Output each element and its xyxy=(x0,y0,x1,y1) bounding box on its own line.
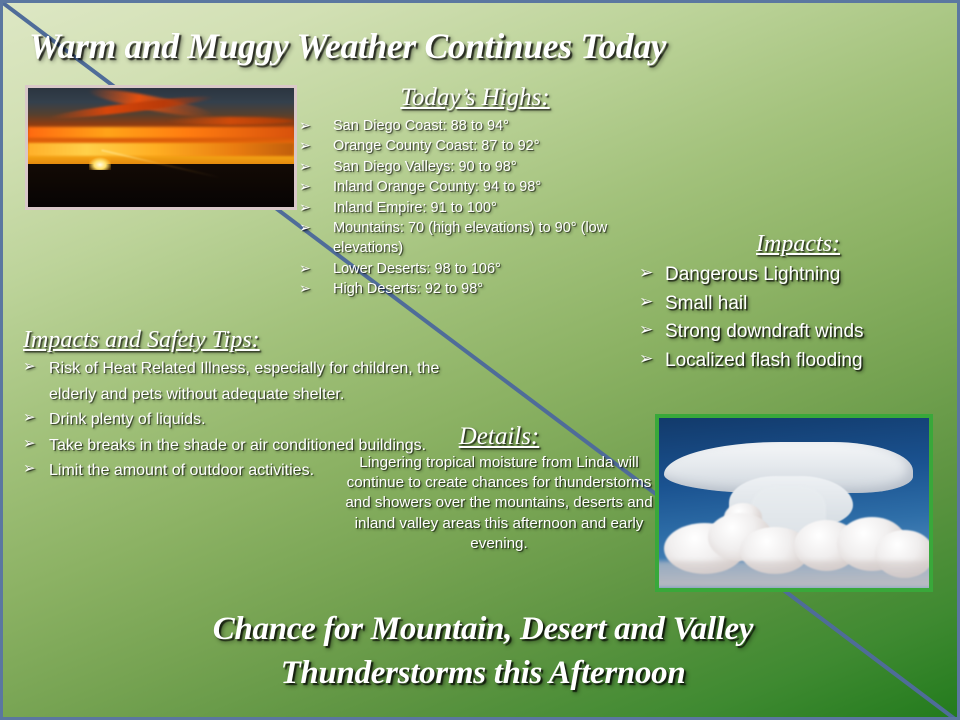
todays-highs-heading: Today’s Highs: xyxy=(299,83,651,113)
sunset-bright-band xyxy=(28,143,294,156)
arrow-bullet-icon: ➢ xyxy=(23,458,49,476)
list-item: ➢ Inland Empire: 91 to 100° xyxy=(299,198,651,218)
list-item: ➢ Lower Deserts: 98 to 106° xyxy=(299,259,651,279)
list-item: ➢ Strong downdraft winds xyxy=(639,318,957,347)
list-item: ➢ Inland Orange County: 94 to 98° xyxy=(299,177,651,197)
list-item-label: Limit the amount of outdoor activities. xyxy=(49,458,314,484)
arrow-bullet-icon: ➢ xyxy=(23,433,49,451)
list-item: ➢ Dangerous Lightning xyxy=(639,261,957,290)
arrow-bullet-icon: ➢ xyxy=(23,356,49,374)
list-item-label: Drink plenty of liquids. xyxy=(49,407,206,433)
page-title: Warm and Muggy Weather Continues Today xyxy=(29,25,666,67)
impacts-and-safety-tips-heading: Impacts and Safety Tips: xyxy=(23,325,453,355)
details-heading: Details: xyxy=(343,421,655,452)
arrow-bullet-icon: ➢ xyxy=(639,290,665,310)
sun-glow xyxy=(89,157,111,170)
arrow-bullet-icon: ➢ xyxy=(639,261,665,281)
bottom-banner-line-2: Thunderstorms this Afternoon xyxy=(3,651,960,695)
list-item-label: Strong downdraft winds xyxy=(665,318,864,347)
list-item-label: Small hail xyxy=(665,290,747,319)
weather-briefing-slide: Warm and Muggy Weather Continues Today T… xyxy=(0,0,960,720)
list-item: ➢ San Diego Coast: 88 to 94° xyxy=(299,116,651,136)
list-item-label: Mountains: 70 (high elevations) to 90° (… xyxy=(333,218,651,259)
list-item: ➢ Mountains: 70 (high elevations) to 90°… xyxy=(299,218,651,259)
todays-highs-section: Today’s Highs: ➢ San Diego Coast: 88 to … xyxy=(299,83,651,300)
bottom-banner: Chance for Mountain, Desert and Valley T… xyxy=(3,607,960,695)
details-body: Lingering tropical moisture from Linda w… xyxy=(343,453,655,554)
list-item: ➢ Orange County Coast: 87 to 92° xyxy=(299,136,651,156)
list-item: ➢ Risk of Heat Related Illness, especial… xyxy=(23,356,453,407)
arrow-bullet-icon: ➢ xyxy=(639,347,665,367)
list-item-label: Risk of Heat Related Illness, especially… xyxy=(49,356,453,407)
list-item-label: Dangerous Lightning xyxy=(665,261,840,290)
cloud-base-haze xyxy=(655,561,933,588)
arrow-bullet-icon: ➢ xyxy=(299,116,333,132)
impacts-heading: Impacts: xyxy=(639,229,957,259)
impacts-list: ➢ Dangerous Lightning ➢ Small hail ➢ Str… xyxy=(639,261,957,375)
list-item-label: High Deserts: 92 to 98° xyxy=(333,279,651,299)
sunset-foreground xyxy=(28,164,294,207)
list-item-label: Lower Deserts: 98 to 106° xyxy=(333,259,651,279)
list-item: ➢ San Diego Valleys: 90 to 98° xyxy=(299,157,651,177)
list-item: ➢ High Deserts: 92 to 98° xyxy=(299,279,651,299)
arrow-bullet-icon: ➢ xyxy=(299,198,333,214)
list-item-label: Inland Orange County: 94 to 98° xyxy=(333,177,651,197)
list-item-label: San Diego Coast: 88 to 94° xyxy=(333,116,651,136)
arrow-bullet-icon: ➢ xyxy=(299,279,333,295)
sunset-photo xyxy=(25,85,297,210)
list-item-label: Localized flash flooding xyxy=(665,347,863,376)
arrow-bullet-icon: ➢ xyxy=(299,218,333,234)
list-item-label: Inland Empire: 91 to 100° xyxy=(333,198,651,218)
impacts-section: Impacts: ➢ Dangerous Lightning ➢ Small h… xyxy=(639,229,957,375)
arrow-bullet-icon: ➢ xyxy=(639,318,665,338)
list-item: ➢ Localized flash flooding xyxy=(639,347,957,376)
list-item-label: San Diego Valleys: 90 to 98° xyxy=(333,157,651,177)
arrow-bullet-icon: ➢ xyxy=(299,136,333,152)
bottom-banner-line-1: Chance for Mountain, Desert and Valley xyxy=(3,607,960,651)
cumulonimbus-cloud-photo xyxy=(655,414,933,592)
arrow-bullet-icon: ➢ xyxy=(299,157,333,173)
arrow-bullet-icon: ➢ xyxy=(23,407,49,425)
details-section: Details: Lingering tropical moisture fro… xyxy=(343,421,655,554)
list-item: ➢ Small hail xyxy=(639,290,957,319)
arrow-bullet-icon: ➢ xyxy=(299,259,333,275)
todays-highs-list: ➢ San Diego Coast: 88 to 94° ➢ Orange Co… xyxy=(299,116,651,300)
arrow-bullet-icon: ➢ xyxy=(299,177,333,193)
list-item-label: Orange County Coast: 87 to 92° xyxy=(333,136,651,156)
sunset-cloud-right xyxy=(166,117,294,125)
sunset-cloud-band xyxy=(28,127,294,138)
